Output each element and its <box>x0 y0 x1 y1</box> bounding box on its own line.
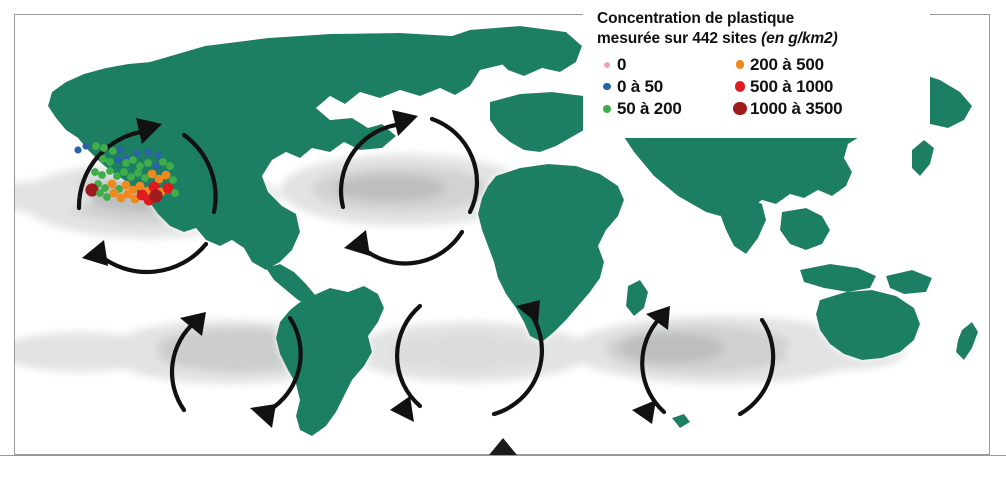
legend-entry: 50 à 200 <box>597 98 730 119</box>
gyre-blob-south-pacific-west <box>0 332 160 372</box>
legend-title-line1: Concentration de plastique <box>597 10 794 27</box>
gyre-blob-north-atlantic-core <box>335 175 445 201</box>
legend-entry-label: 500 à 1000 <box>750 77 833 97</box>
sample-point <box>120 168 128 176</box>
legend-entry: 1000 à 3500 <box>730 98 842 119</box>
legend-title: Concentration de plastique mesurée sur 4… <box>597 9 918 48</box>
sample-point <box>82 142 89 149</box>
legend-column-right: 200 à 500500 à 10001000 à 3500 <box>730 54 842 119</box>
sample-point <box>144 148 151 155</box>
legend-swatch-icon <box>730 102 750 115</box>
sample-point <box>169 176 177 184</box>
sample-point <box>114 156 121 163</box>
sample-point <box>171 189 179 197</box>
legend-dot <box>604 62 610 68</box>
legend-entry-label: 50 à 200 <box>617 99 682 119</box>
legend-dot <box>603 105 611 113</box>
legend-dot <box>733 102 746 115</box>
sample-point <box>92 142 100 150</box>
legend-entry: 0 à 50 <box>597 76 730 97</box>
sample-point <box>127 173 135 181</box>
legend-entry: 200 à 500 <box>730 54 842 75</box>
sample-point <box>116 146 123 153</box>
sample-point <box>133 149 140 156</box>
legend-title-line2: mesurée sur 442 sites <box>597 30 757 47</box>
sample-point <box>134 169 142 177</box>
gyre-blob-indian-core <box>620 333 724 363</box>
legend-unit: (en g/km2) <box>761 30 838 47</box>
legend-entry-label: 0 à 50 <box>617 77 663 97</box>
sample-point <box>152 162 159 169</box>
sample-point <box>149 189 162 202</box>
sample-point <box>106 158 114 166</box>
sample-point <box>166 162 174 170</box>
legend-entry: 0 <box>597 54 730 75</box>
sample-point <box>122 159 130 167</box>
sample-point <box>91 168 99 176</box>
legend-entry-label: 1000 à 3500 <box>750 99 842 119</box>
sample-point <box>100 144 108 152</box>
legend-column-left: 00 à 5050 à 200 <box>597 54 730 119</box>
sample-point <box>103 193 111 201</box>
legend-swatch-icon <box>597 105 617 113</box>
legend-panel: Concentration de plastique mesurée sur 4… <box>583 0 930 138</box>
sample-point <box>98 171 106 179</box>
gyre-blob-south-atlantic-mid <box>390 334 546 370</box>
legend-entry-label: 0 <box>617 55 626 75</box>
legend-entry-label: 200 à 500 <box>750 55 824 75</box>
sample-point <box>108 180 117 189</box>
plastic-concentration-map: Concentration de plastique mesurée sur 4… <box>0 0 1006 477</box>
source-triangle-marker <box>489 438 517 455</box>
legend-swatch-icon <box>597 83 617 90</box>
sample-point <box>106 167 114 175</box>
legend-swatch-icon <box>597 62 617 68</box>
bottom-rule <box>0 455 1006 456</box>
sample-point <box>99 155 107 163</box>
legend-dot <box>736 60 745 69</box>
legend-swatch-icon <box>730 81 750 92</box>
sample-point <box>129 156 137 164</box>
legend-columns: 00 à 5050 à 200 200 à 500500 à 10001000 … <box>597 54 918 119</box>
legend-swatch-icon <box>730 60 750 69</box>
legend-dot <box>603 83 610 90</box>
sample-point <box>144 159 152 167</box>
sample-point <box>113 172 121 180</box>
sample-point <box>162 171 171 180</box>
sample-point <box>154 151 161 158</box>
sample-point <box>96 189 104 197</box>
legend-dot <box>735 81 746 92</box>
sample-point <box>136 162 144 170</box>
sample-point <box>74 146 81 153</box>
sample-point <box>159 158 167 166</box>
legend-entry: 500 à 1000 <box>730 76 842 97</box>
sample-point <box>141 174 149 182</box>
sample-point <box>109 147 117 155</box>
